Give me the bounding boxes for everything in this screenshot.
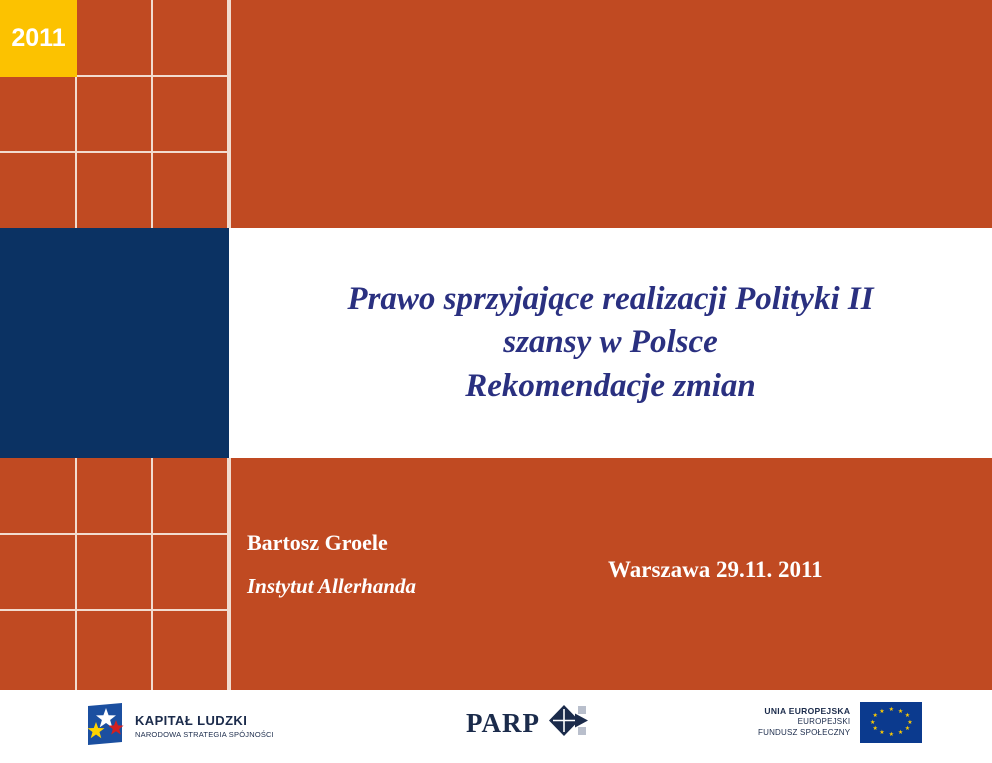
eu-line-2: EUROPEJSKI bbox=[758, 717, 850, 728]
eu-star-icon: ★ bbox=[870, 720, 875, 726]
eu-star-icon: ★ bbox=[905, 726, 910, 732]
kapital-ludzki-mark-icon bbox=[84, 702, 126, 751]
kapital-ludzki-text: KAPITAŁ LUDZKI NARODOWA STRATEGIA SPÓJNO… bbox=[135, 714, 274, 739]
grid-cell bbox=[0, 611, 77, 690]
bottom-orange-band: Bartosz Groele Instytut Allerhanda Warsz… bbox=[0, 458, 992, 690]
grid-cell bbox=[153, 0, 229, 77]
unia-europejska-text: UNIA EUROPEJSKA EUROPEJSKI FUNDUSZ SPOŁE… bbox=[758, 706, 850, 739]
grid-cell bbox=[153, 153, 229, 228]
eu-star-icon: ★ bbox=[898, 709, 903, 715]
grid-cell bbox=[0, 153, 77, 228]
grid-cell bbox=[77, 0, 153, 77]
grid-cell bbox=[77, 611, 153, 690]
parp-wordmark: PARP bbox=[466, 708, 540, 739]
year-badge-label: 2011 bbox=[11, 24, 65, 53]
title-area: Prawo sprzyjające realizacji Polityki II… bbox=[229, 228, 992, 458]
eu-line-3: FUNDUSZ SPOŁECZNY bbox=[758, 728, 850, 739]
grid-cell bbox=[0, 77, 77, 153]
navy-accent-block bbox=[0, 228, 229, 458]
grid-cell bbox=[153, 611, 229, 690]
decorative-grid-bottom bbox=[0, 458, 229, 690]
grid-cell bbox=[77, 77, 153, 153]
slide-title: Prawo sprzyjające realizacji Polityki II… bbox=[271, 278, 951, 409]
eu-star-icon: ★ bbox=[889, 732, 894, 738]
grid-cell bbox=[0, 535, 77, 611]
event-place-date: Warszawa 29.11. 2011 bbox=[608, 558, 823, 581]
top-orange-band: 2011 bbox=[0, 0, 992, 228]
kapital-ludzki-title: KAPITAŁ LUDZKI bbox=[135, 714, 274, 728]
unia-europejska-logo: UNIA EUROPEJSKA EUROPEJSKI FUNDUSZ SPOŁE… bbox=[758, 702, 922, 743]
eu-star-icon: ★ bbox=[879, 709, 884, 715]
eu-star-icon: ★ bbox=[873, 713, 878, 719]
grid-cell bbox=[77, 458, 153, 535]
year-badge: 2011 bbox=[0, 0, 77, 77]
author-block: Bartosz Groele Instytut Allerhanda bbox=[247, 532, 587, 597]
kapital-ludzki-subtitle: NARODOWA STRATEGIA SPÓJNOŚCI bbox=[135, 730, 274, 739]
grid-cell bbox=[0, 458, 77, 535]
eu-star-icon: ★ bbox=[889, 707, 894, 713]
eu-flag-icon: ★★★★★★★★★★★★ bbox=[860, 702, 922, 743]
eu-line-1: UNIA EUROPEJSKA bbox=[758, 706, 850, 717]
eu-star-icon: ★ bbox=[905, 713, 910, 719]
eu-star-icon: ★ bbox=[879, 730, 884, 736]
grid-cell bbox=[153, 458, 229, 535]
vertical-divider-bottom bbox=[229, 458, 231, 690]
eu-star-icon: ★ bbox=[907, 720, 912, 726]
parp-logo: PARP bbox=[466, 704, 592, 743]
decorative-grid-top: 2011 bbox=[0, 0, 229, 228]
grid-cell bbox=[153, 535, 229, 611]
author-organization: Instytut Allerhanda bbox=[247, 576, 587, 597]
vertical-divider-top bbox=[229, 0, 231, 228]
author-name: Bartosz Groele bbox=[247, 532, 587, 554]
eu-star-icon: ★ bbox=[898, 730, 903, 736]
grid-cell bbox=[77, 153, 153, 228]
presentation-slide: 2011 Prawo sprzyjające realizacji Polity… bbox=[0, 0, 992, 763]
kapital-ludzki-logo: KAPITAŁ LUDZKI NARODOWA STRATEGIA SPÓJNO… bbox=[84, 702, 274, 751]
grid-cell bbox=[77, 535, 153, 611]
grid-cell bbox=[153, 77, 229, 153]
footer-logo-bar: KAPITAŁ LUDZKI NARODOWA STRATEGIA SPÓJNO… bbox=[0, 690, 992, 763]
middle-band: Prawo sprzyjające realizacji Polityki II… bbox=[0, 228, 992, 458]
parp-diamond-arrows-icon bbox=[548, 704, 592, 743]
eu-star-icon: ★ bbox=[873, 726, 878, 732]
